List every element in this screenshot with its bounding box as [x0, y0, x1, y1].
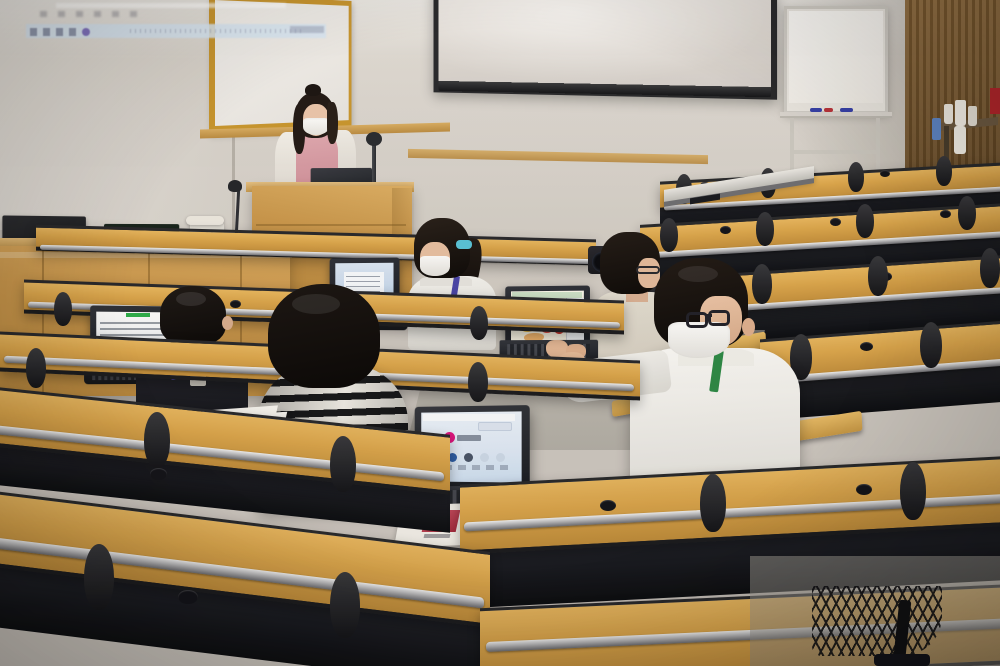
bottle-blue	[932, 118, 941, 140]
bench-cable-hole	[940, 210, 951, 218]
projected-menu-item	[130, 11, 137, 17]
bench-end-cap	[84, 544, 114, 610]
student-a-ear	[222, 316, 233, 330]
projected-menu-item	[40, 11, 47, 17]
bench-cable-hole	[150, 468, 167, 480]
bench-end-cap	[330, 572, 360, 638]
student-e-glasses-left-lens	[686, 312, 708, 328]
bench-cable-hole	[230, 300, 241, 308]
student-d-glasses	[636, 266, 660, 274]
whiteboard-marker-red	[824, 108, 833, 112]
projected-ruler	[130, 29, 305, 33]
bench-cable-hole	[830, 218, 841, 226]
student-e-hair-highlight	[678, 266, 718, 282]
bench-end-cap	[900, 462, 926, 520]
instructor-face-mask	[303, 118, 329, 135]
projected-menu-item	[94, 11, 101, 17]
site-icon	[496, 453, 505, 462]
projected-menu-row	[40, 10, 290, 17]
projected-menu-item	[112, 11, 119, 17]
bench-end-cap	[144, 412, 170, 468]
site-icon	[464, 453, 473, 462]
chair-foot	[874, 654, 930, 666]
bench-cable-hole	[860, 342, 873, 351]
bench-cable-hole	[720, 226, 731, 234]
bench-end-cap	[470, 306, 488, 340]
bench-end-cap	[920, 322, 942, 368]
projected-tool-icon	[56, 28, 63, 36]
student-e-glasses-right-lens	[708, 310, 730, 326]
whiteboard-stand-leg	[876, 118, 880, 176]
podium-microphone-head	[366, 132, 382, 146]
student-c-hair-tie	[456, 240, 472, 249]
bench-cable-hole	[880, 170, 890, 177]
projected-toolbar-right-label	[290, 26, 324, 33]
projected-tool-icon	[30, 28, 37, 36]
bench-cable-hole	[178, 590, 198, 604]
bottle	[944, 104, 953, 124]
whiteboard-marker-blue	[840, 108, 853, 112]
student-c-face-mask	[420, 256, 450, 276]
bench-end-cap	[26, 348, 46, 388]
whiteboard-stand-leg	[790, 118, 794, 176]
bench-end-cap	[54, 292, 72, 326]
bottle	[968, 106, 977, 126]
projected-tool-icon	[43, 28, 50, 36]
bench-end-cap	[756, 212, 774, 246]
instructor-hair-bun	[305, 84, 321, 96]
instructor-hair-side	[327, 102, 338, 144]
bench-cable-hole	[856, 484, 872, 495]
bench-cable-hole	[600, 500, 616, 511]
bench-end-cap	[848, 162, 864, 192]
bench-end-cap	[868, 256, 888, 296]
wire-storage-basket	[812, 586, 942, 656]
bench-end-cap	[700, 474, 726, 532]
bench-end-cap	[958, 196, 976, 230]
site-logo-wordmark	[457, 435, 481, 441]
site-icon	[480, 453, 489, 462]
counter-microphone-head	[228, 180, 242, 192]
bottle-tall	[954, 126, 966, 154]
bench-end-cap	[660, 218, 678, 252]
flyer-caption	[424, 534, 451, 538]
bench-end-cap	[330, 436, 356, 492]
projected-menu-item	[58, 11, 65, 17]
projector-glow	[438, 0, 771, 90]
projected-tool-icon-round	[82, 28, 90, 36]
bench-end-cap	[980, 248, 1000, 288]
projected-menu-item	[76, 11, 83, 17]
student-e-glasses-bridge	[706, 314, 712, 317]
projected-title-bar	[56, 3, 286, 8]
browser-search-field	[478, 422, 512, 431]
projection-screen-surface	[438, 0, 771, 90]
desk-telephone-handset	[186, 216, 224, 225]
browser-top-bar	[423, 414, 515, 421]
bench-end-cap	[936, 156, 952, 186]
student-b-hair-highlight	[292, 294, 340, 314]
projected-tool-icon	[69, 28, 76, 36]
whiteboard-marker-blue	[810, 108, 822, 112]
document-green-accent-bar	[126, 313, 150, 317]
bottle	[955, 100, 966, 126]
bench-end-cap	[752, 264, 772, 304]
red-container	[990, 88, 1000, 114]
whiteboard-stand-crossbar	[790, 150, 880, 154]
bench-end-cap	[468, 362, 488, 402]
mobile-whiteboard-surface	[789, 11, 883, 103]
podium-panel-seam	[256, 224, 406, 226]
lecture-hall-photograph: University lecture hall computer class T…	[0, 0, 1000, 666]
student-e-ear	[742, 318, 755, 336]
student-a-hair-highlight	[176, 292, 206, 306]
bench-end-cap	[856, 204, 874, 238]
